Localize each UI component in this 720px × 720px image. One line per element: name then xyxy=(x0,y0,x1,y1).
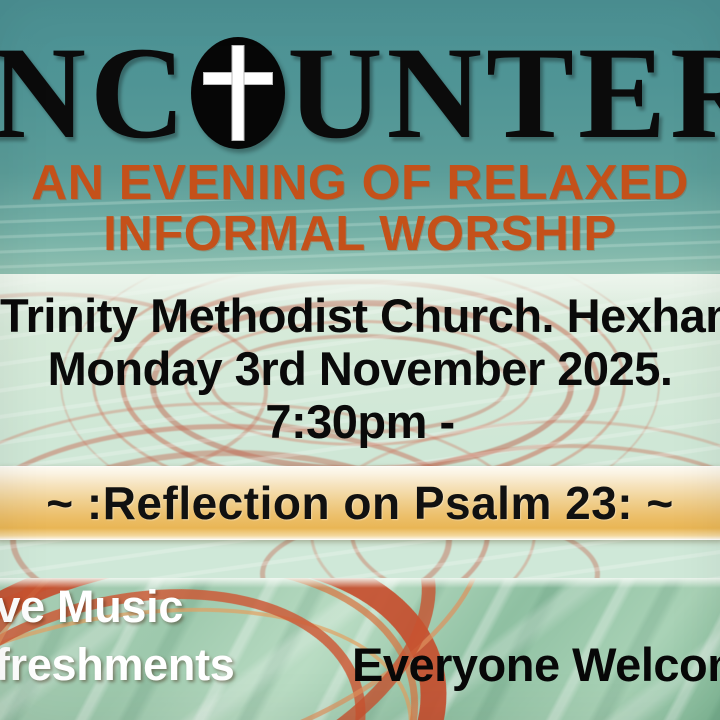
feature-live-music: Live Music xyxy=(0,581,183,633)
feature-refreshments: Refreshments xyxy=(0,639,235,691)
reflection-banner: ~ :Reflection on Psalm 23: ~ xyxy=(0,466,720,540)
reflection-banner-text: ~ :Reflection on Psalm 23: ~ xyxy=(46,476,674,530)
poster-title: ENC UNTER xyxy=(0,34,720,152)
title-text-right: UNTER xyxy=(287,27,720,159)
everyone-welcome-text: Everyone Welcome xyxy=(352,637,720,692)
event-date: Monday 3rd November 2025. xyxy=(0,341,720,396)
event-poster: ENC UNTER AN EVENING OF RELAXED INFORMAL… xyxy=(0,0,720,720)
event-time: 7:30pm - xyxy=(0,394,720,449)
venue-location: Trinity Methodist Church. Hexham xyxy=(0,288,720,343)
subtitle-line-1: AN EVENING OF RELAXED xyxy=(0,155,720,211)
title-text-left: ENC xyxy=(0,27,189,159)
cross-in-circle-icon xyxy=(191,37,285,149)
subtitle-line-2: INFORMAL WORSHIP xyxy=(0,206,720,262)
cross-vertical-bar xyxy=(232,45,245,141)
